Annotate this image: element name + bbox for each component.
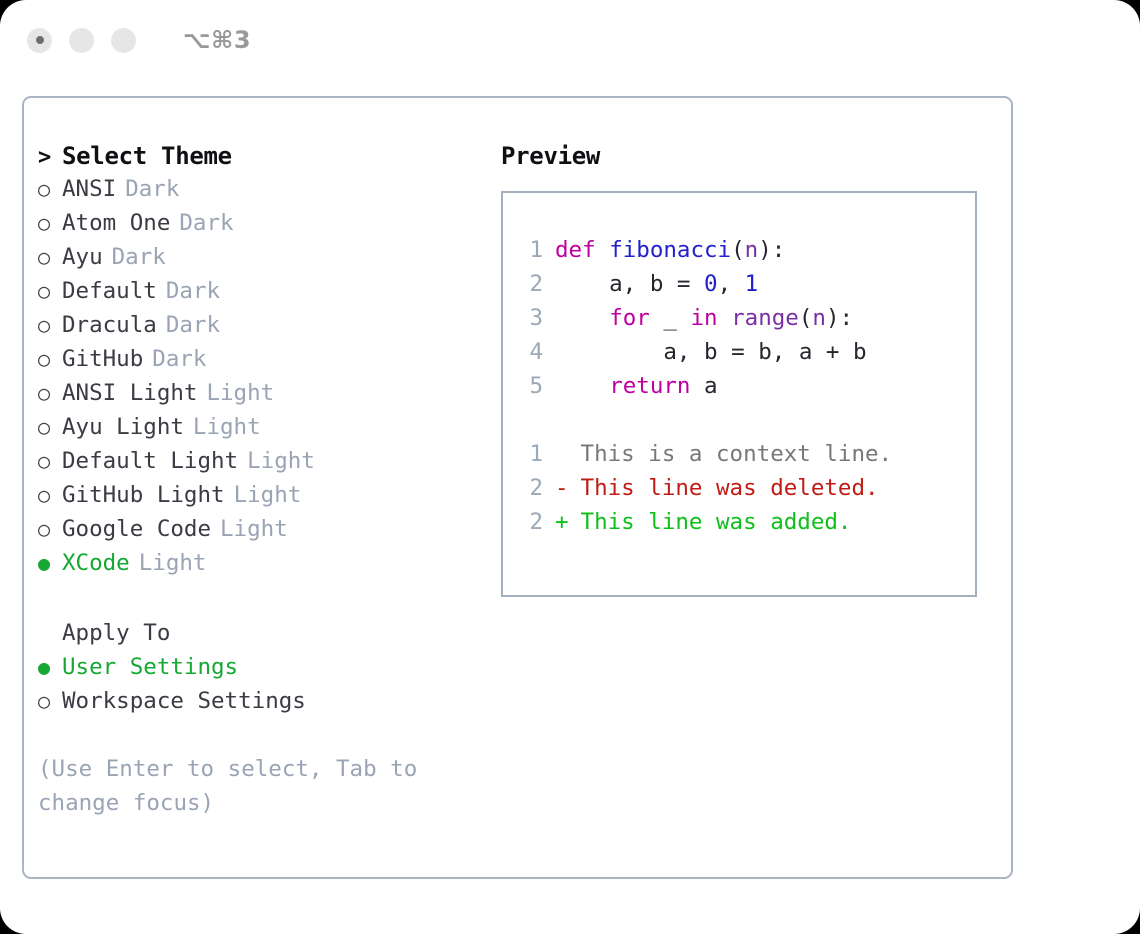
code-token: (: [799, 305, 813, 331]
theme-picker-panel: >Select Theme ○ANSIDark○Atom OneDark○Ayu…: [22, 96, 1013, 879]
radio-unselected-icon[interactable]: ○: [38, 213, 62, 233]
code-token: a, b = b, a + b: [555, 339, 867, 365]
theme-kind-label: Light: [193, 414, 261, 440]
code-token: for: [609, 305, 650, 331]
theme-name: Dracula: [62, 312, 157, 338]
code-token: a, b =: [555, 271, 704, 297]
code-line: 4 a, b = b, a + b: [517, 339, 975, 373]
diff-line: 2- This line was deleted.: [517, 475, 975, 509]
diff-sample: 1 This is a context line.2- This line wa…: [517, 441, 975, 543]
code-line-number: 3: [517, 305, 543, 331]
code-line-number: 2: [517, 271, 543, 297]
radio-unselected-icon[interactable]: ○: [38, 417, 62, 437]
apply-to-title: Apply To: [62, 620, 170, 646]
theme-kind-label: Light: [220, 516, 288, 542]
code-line: 1def fibonacci(n):: [517, 237, 975, 271]
code-line: 2 a, b = 0, 1: [517, 271, 975, 305]
radio-unselected-icon[interactable]: ○: [38, 691, 62, 711]
theme-option-row[interactable]: ○Ayu LightLight: [38, 414, 488, 448]
apply-to-bullet-placeholder: ○: [38, 623, 62, 643]
theme-kind-label: Light: [139, 550, 207, 576]
keyboard-shortcut-label: ⌥⌘3: [183, 26, 251, 54]
theme-name: Google Code: [62, 516, 211, 542]
theme-option-row[interactable]: ○Google CodeLight: [38, 516, 488, 550]
apply-to-header: ○Apply To: [38, 620, 488, 654]
code-token: [555, 373, 609, 399]
radio-selected-icon[interactable]: ●: [38, 553, 62, 573]
code-token: [718, 305, 732, 331]
theme-kind-label: Dark: [112, 244, 166, 270]
diff-line-number: 2: [517, 475, 543, 501]
theme-option-row[interactable]: ○AyuDark: [38, 244, 488, 278]
theme-name: Default Light: [62, 448, 238, 474]
radio-unselected-icon[interactable]: ○: [38, 349, 62, 369]
code-token: return: [609, 373, 690, 399]
code-token: 0: [704, 271, 718, 297]
theme-option-row[interactable]: ○GitHub LightLight: [38, 482, 488, 516]
section-spacer: [38, 584, 488, 620]
window-titlebar: ⌥⌘3: [0, 0, 1140, 80]
code-token: fibonacci: [609, 237, 731, 263]
theme-option-row[interactable]: ○ANSIDark: [38, 176, 488, 210]
preview-column: Preview 1def fibonacci(n):2 a, b = 0, 13…: [501, 142, 991, 597]
code-token: n: [812, 305, 826, 331]
theme-option-row[interactable]: ○DefaultDark: [38, 278, 488, 312]
radio-unselected-icon[interactable]: ○: [38, 179, 62, 199]
radio-unselected-icon[interactable]: ○: [38, 281, 62, 301]
radio-selected-icon[interactable]: ●: [38, 657, 62, 677]
code-token: [555, 305, 609, 331]
theme-option-row[interactable]: ○Atom OneDark: [38, 210, 488, 244]
theme-kind-label: Dark: [179, 210, 233, 236]
diff-text: This line was added.: [567, 509, 851, 535]
window-controls: [27, 28, 136, 53]
app-window: ⌥⌘3 >Select Theme ○ANSIDark○Atom OneDark…: [0, 0, 1140, 934]
diff-line-number: 2: [517, 509, 543, 535]
theme-name: XCode: [62, 550, 130, 576]
theme-option-row[interactable]: ○DraculaDark: [38, 312, 488, 346]
diff-marker: -: [555, 475, 567, 501]
apply-to-option-label: User Settings: [62, 654, 238, 680]
diff-marker: [555, 441, 567, 467]
theme-kind-label: Dark: [125, 176, 179, 202]
theme-name: Default: [62, 278, 157, 304]
theme-option-row[interactable]: ○GitHubDark: [38, 346, 488, 380]
window-control-maximize[interactable]: [111, 28, 136, 53]
theme-list-column: >Select Theme ○ANSIDark○Atom OneDark○Ayu…: [38, 142, 488, 820]
radio-unselected-icon[interactable]: ○: [38, 247, 62, 267]
apply-to-option-row[interactable]: ○Workspace Settings: [38, 688, 488, 722]
code-line-number: 1: [517, 237, 543, 263]
code-token: (: [731, 237, 745, 263]
diff-text: This line was deleted.: [567, 475, 879, 501]
radio-unselected-icon[interactable]: ○: [38, 451, 62, 471]
code-token: 1: [745, 271, 759, 297]
theme-kind-label: Light: [234, 482, 302, 508]
diff-line: 2+ This line was added.: [517, 509, 975, 543]
theme-name: GitHub: [62, 346, 143, 372]
code-token: a: [690, 373, 717, 399]
theme-name: ANSI Light: [62, 380, 197, 406]
diff-text: This is a context line.: [567, 441, 892, 467]
diff-line-number: 1: [517, 441, 543, 467]
code-line: 3 for _ in range(n):: [517, 305, 975, 339]
theme-kind-label: Dark: [152, 346, 206, 372]
code-token: in: [690, 305, 717, 331]
code-token: _: [650, 305, 691, 331]
diff-marker: +: [555, 509, 567, 535]
theme-option-row[interactable]: ●XCodeLight: [38, 550, 488, 584]
code-token: ):: [758, 237, 785, 263]
apply-to-option-label: Workspace Settings: [62, 688, 306, 714]
select-theme-title: Select Theme: [62, 142, 232, 170]
theme-name: Ayu: [62, 244, 103, 270]
keyboard-hint-text: (Use Enter to select, Tab to change focu…: [38, 752, 442, 820]
theme-name: Ayu Light: [62, 414, 184, 440]
code-token: n: [745, 237, 759, 263]
code-blank-line: [517, 407, 975, 441]
radio-unselected-icon[interactable]: ○: [38, 519, 62, 539]
theme-kind-label: Dark: [166, 278, 220, 304]
theme-kind-label: Light: [206, 380, 274, 406]
apply-to-option-row[interactable]: ●User Settings: [38, 654, 488, 688]
theme-option-row[interactable]: ○ANSI LightLight: [38, 380, 488, 414]
radio-unselected-icon[interactable]: ○: [38, 315, 62, 335]
code-sample: 1def fibonacci(n):2 a, b = 0, 13 for _ i…: [517, 237, 975, 407]
radio-unselected-icon[interactable]: ○: [38, 383, 62, 403]
apply-to-options-list: ●User Settings○Workspace Settings: [38, 654, 488, 722]
select-theme-header: >Select Theme: [38, 142, 488, 176]
code-line-number: 4: [517, 339, 543, 365]
window-control-close[interactable]: [27, 28, 52, 53]
theme-options-list: ○ANSIDark○Atom OneDark○AyuDark○DefaultDa…: [38, 176, 488, 584]
preview-title: Preview: [501, 142, 991, 170]
code-token: def: [555, 237, 609, 263]
window-control-minimize[interactable]: [69, 28, 94, 53]
code-token: range: [731, 305, 799, 331]
radio-unselected-icon[interactable]: ○: [38, 485, 62, 505]
code-token: ):: [826, 305, 853, 331]
code-line-number: 5: [517, 373, 543, 399]
theme-kind-label: Dark: [166, 312, 220, 338]
theme-name: ANSI: [62, 176, 116, 202]
theme-name: Atom One: [62, 210, 170, 236]
theme-option-row[interactable]: ○Default LightLight: [38, 448, 488, 482]
active-indicator-dot: [36, 36, 44, 44]
theme-kind-label: Light: [247, 448, 315, 474]
code-line: 5 return a: [517, 373, 975, 407]
prompt-caret-icon: >: [38, 147, 62, 169]
preview-box: 1def fibonacci(n):2 a, b = 0, 13 for _ i…: [501, 191, 977, 597]
diff-line: 1 This is a context line.: [517, 441, 975, 475]
theme-name: GitHub Light: [62, 482, 225, 508]
code-token: ,: [718, 271, 745, 297]
